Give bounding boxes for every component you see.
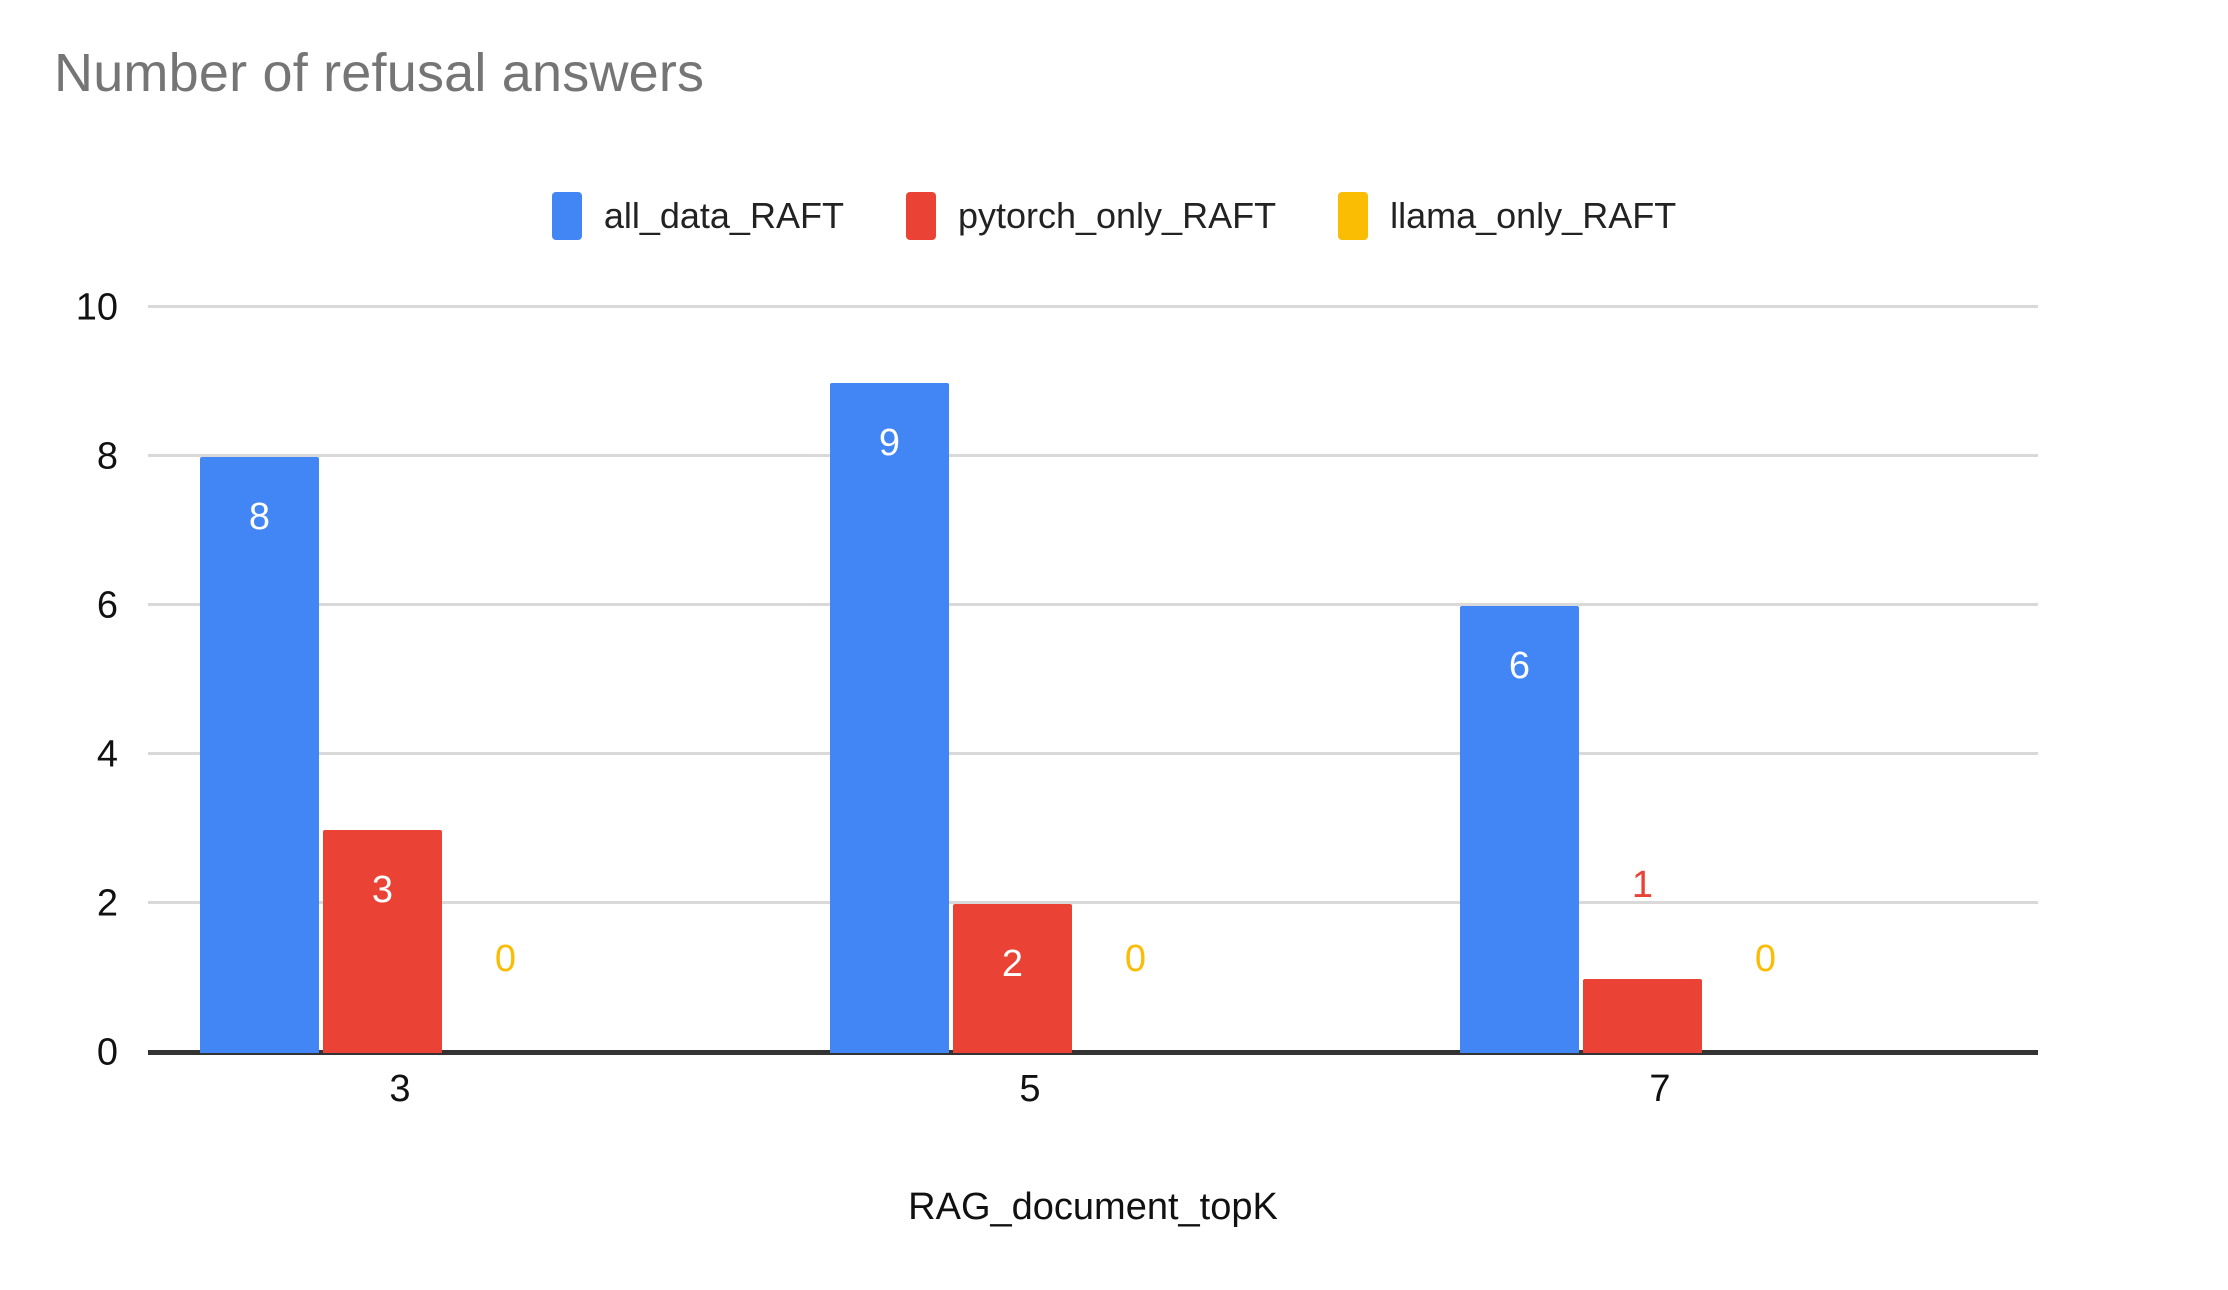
bar-value-label: 0 [446, 938, 565, 981]
legend-label-all-data-raft: all_data_RAFT [604, 195, 844, 237]
bar-value-label: 0 [1706, 938, 1825, 981]
bar[interactable] [953, 904, 1072, 1053]
bar-groups: 830920610 [148, 308, 2038, 1053]
bar-group: 920 [778, 308, 1408, 1053]
legend-swatch-yellow-icon [1338, 192, 1368, 240]
bar[interactable] [1460, 606, 1579, 1053]
legend-label-llama-only-raft: llama_only_RAFT [1390, 195, 1676, 237]
legend-swatch-red-icon [906, 192, 936, 240]
x-axis-tick-label: 7 [1560, 1068, 1760, 1111]
y-axis-tick-label: 4 [97, 734, 118, 777]
bar-group: 830 [148, 308, 778, 1053]
x-axis-tick-label: 3 [300, 1068, 500, 1111]
legend-swatch-blue-icon [552, 192, 582, 240]
x-axis-title: RAG_document_topK [148, 1186, 2038, 1229]
bar[interactable] [200, 457, 319, 1053]
y-axis-tick-label: 0 [97, 1032, 118, 1075]
y-axis-tick-label: 6 [97, 585, 118, 628]
legend-item-llama-only-raft[interactable]: llama_only_RAFT [1338, 192, 1676, 240]
bar-value-label: 0 [1076, 938, 1195, 981]
bar-value-label: 1 [1583, 864, 1702, 907]
plot-area: 830920610 [148, 308, 2038, 1053]
x-axis-tick-label: 5 [930, 1068, 1130, 1111]
y-axis-tick-label: 10 [76, 287, 118, 330]
bar[interactable] [830, 383, 949, 1054]
legend-item-pytorch-only-raft[interactable]: pytorch_only_RAFT [906, 192, 1276, 240]
bar[interactable] [323, 830, 442, 1054]
chart-title: Number of refusal answers [54, 42, 704, 104]
y-axis-tick-labels: 0246810 [0, 308, 148, 1053]
y-axis-tick-label: 8 [97, 436, 118, 479]
chart-container: Number of refusal answers all_data_RAFT … [0, 0, 2228, 1290]
x-axis-tick-labels: 357 [148, 1068, 2038, 1128]
y-axis-tick-label: 2 [97, 883, 118, 926]
legend-label-pytorch-only-raft: pytorch_only_RAFT [958, 195, 1276, 237]
legend-item-all-data-raft[interactable]: all_data_RAFT [552, 192, 844, 240]
bar[interactable] [1583, 979, 1702, 1054]
chart-legend: all_data_RAFT pytorch_only_RAFT llama_on… [0, 192, 2228, 240]
bar-group: 610 [1408, 308, 2038, 1053]
